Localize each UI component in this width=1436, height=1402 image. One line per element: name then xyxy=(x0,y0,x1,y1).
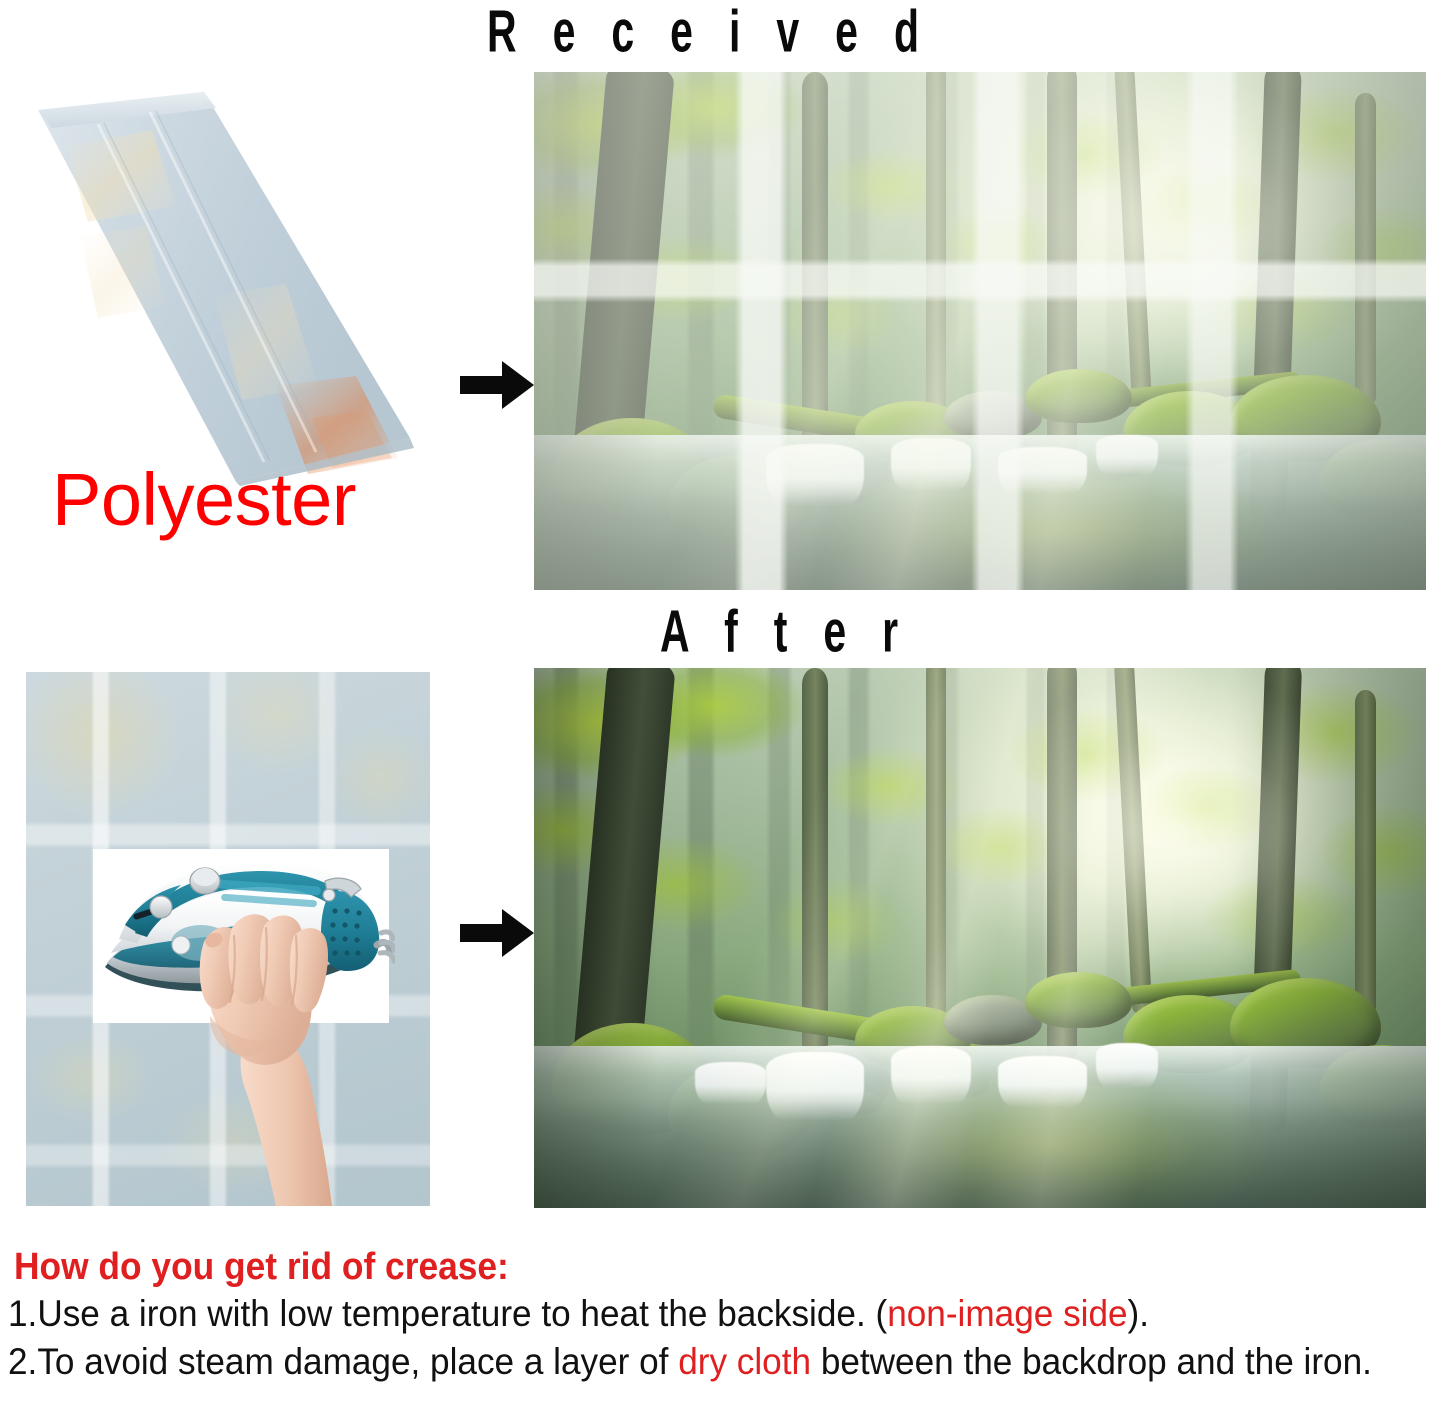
care-line1-text-a: 1.Use a iron with low temperature to hea… xyxy=(8,1293,887,1334)
right-arrow-icon xyxy=(458,903,536,963)
crease-lines-overlay xyxy=(534,72,1426,590)
care-instructions-title: How do you get rid of crease: xyxy=(14,1245,1336,1290)
care-line1-text-b: ). xyxy=(1128,1293,1149,1334)
care-line2-highlight: dry cloth xyxy=(678,1341,811,1382)
after-backdrop-photo xyxy=(534,668,1426,1208)
polyester-label: Polyester xyxy=(52,463,356,537)
heading-received: R e c e i v e d xyxy=(487,2,931,61)
care-line2-text-b: between the backdrop and the iron. xyxy=(811,1341,1372,1382)
received-backdrop-photo xyxy=(534,72,1426,590)
care-instruction-line-2: 2.To avoid steam damage, place a layer o… xyxy=(8,1338,1365,1386)
infographic-root: R e c e i v e d A f t e r xyxy=(0,0,1436,1402)
folded-cloth-svg xyxy=(26,86,418,486)
heading-after: A f t e r xyxy=(660,602,910,661)
care-instruction-line-1: 1.Use a iron with low temperature to hea… xyxy=(8,1290,1365,1338)
folded-cloth-image xyxy=(26,86,418,486)
hand-icon xyxy=(186,906,356,1206)
right-arrow-icon xyxy=(458,355,536,415)
care-line2-text-a: 2.To avoid steam damage, place a layer o… xyxy=(8,1341,678,1382)
care-instructions: How do you get rid of crease: 1.Use a ir… xyxy=(0,1245,1436,1386)
care-line1-highlight: non-image side xyxy=(887,1293,1127,1334)
